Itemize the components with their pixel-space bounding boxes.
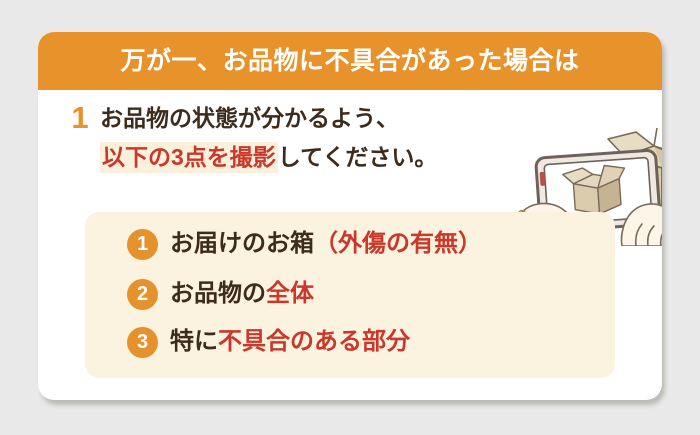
step-highlight-text: 以下の3点を撮影	[100, 142, 278, 173]
list-badge-1: 1	[127, 229, 158, 260]
step-number: 1	[66, 100, 94, 136]
list-badge-2: 2	[127, 279, 158, 310]
poster-canvas: 万が一、お品物に不具合があった場合は 1 お品物の状態が分かるよう、 以下の3点…	[0, 0, 700, 435]
list-item-1-accent: （外傷の有無）	[314, 230, 482, 257]
info-card: 万が一、お品物に不具合があった場合は 1 お品物の状態が分かるよう、 以下の3点…	[38, 32, 662, 400]
step-line-1: お品物の状態が分かるよう、	[100, 100, 437, 136]
list-item-1-plain: お届けのお箱	[170, 230, 314, 257]
list-item-text-2: お品物の全体	[170, 282, 314, 306]
step-line-2: 以下の3点を撮影してください。	[100, 139, 437, 175]
list-item: 2 お品物の全体	[127, 274, 314, 314]
list-item-2-plain: お品物の	[170, 280, 266, 307]
list-item-text-3: 特に不具合のある部分	[170, 330, 410, 354]
list-item-3-accent: 不具合のある部分	[218, 328, 410, 355]
photo-checklist-panel: 1 お届けのお箱（外傷の有無） 2 お品物の全体 3 特に不具合のある部分	[85, 212, 615, 378]
list-item-text-1: お届けのお箱（外傷の有無）	[170, 232, 482, 256]
list-badge-3: 3	[127, 327, 158, 358]
step-line-2-rest: してください。	[278, 144, 438, 170]
header-band: 万が一、お品物に不具合があった場合は	[38, 32, 662, 90]
list-item: 1 お届けのお箱（外傷の有無）	[127, 224, 482, 264]
list-item-3-plain: 特に	[170, 328, 218, 355]
list-item: 3 特に不具合のある部分	[127, 322, 410, 362]
page-title: 万が一、お品物に不具合があった場合は	[120, 49, 579, 74]
step-row: 1 お品物の状態が分かるよう、 以下の3点を撮影してください。	[66, 100, 536, 175]
step-block: 1 お品物の状態が分かるよう、 以下の3点を撮影してください。	[66, 100, 536, 175]
list-item-2-accent: 全体	[266, 280, 314, 307]
step-lines: お品物の状態が分かるよう、 以下の3点を撮影してください。	[100, 100, 437, 175]
